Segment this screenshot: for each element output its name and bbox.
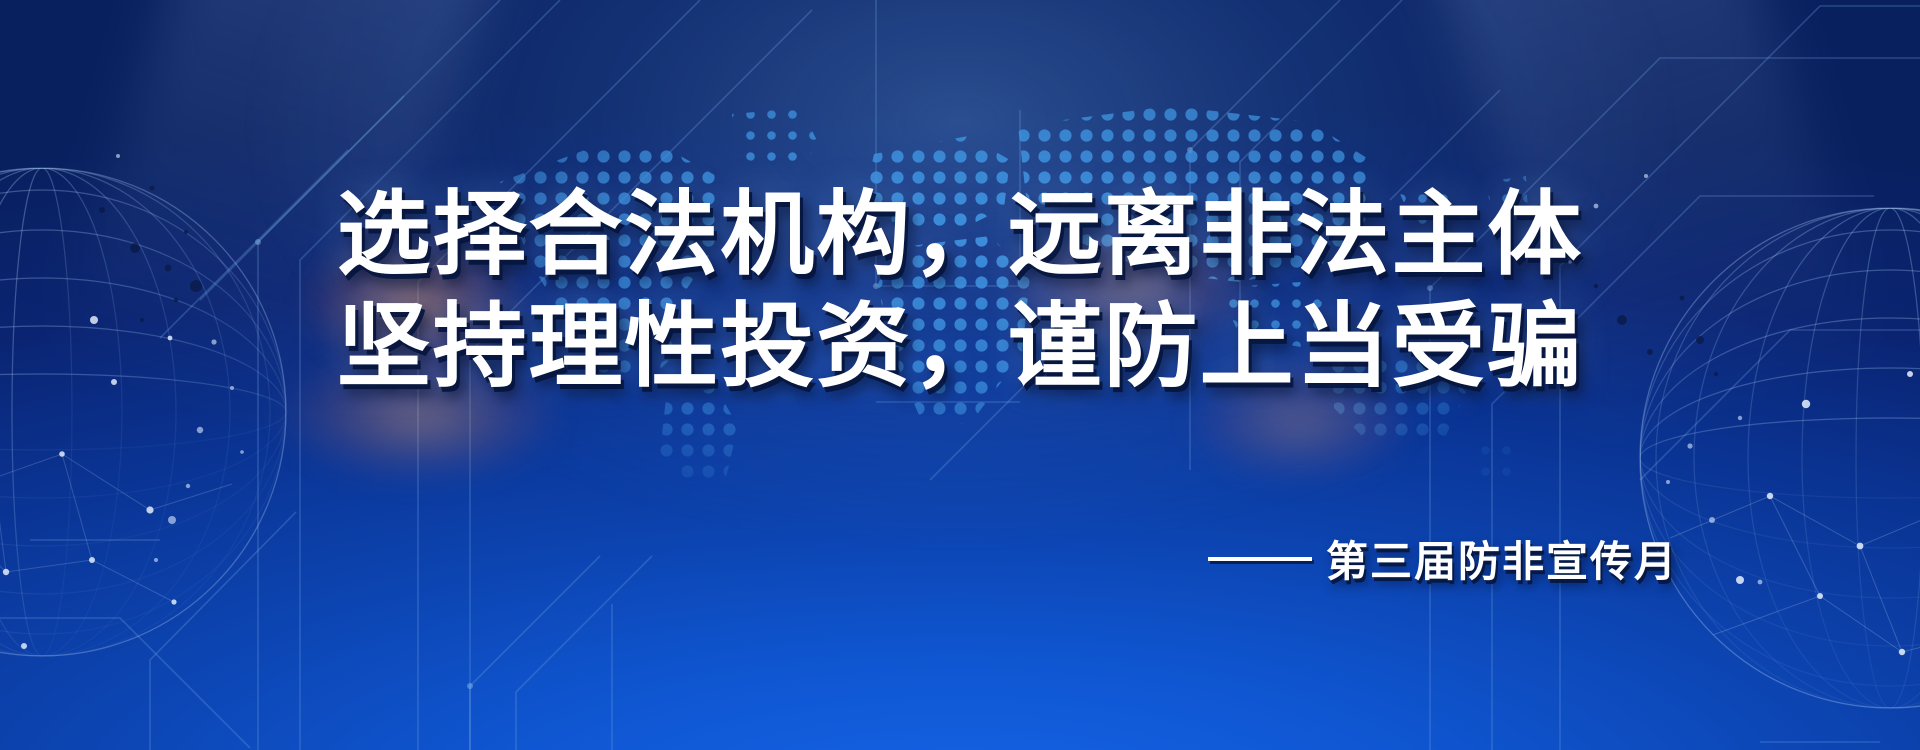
headline-block: 选择合法机构，远离非法主体 坚持理性投资，谨防上当受骗	[0, 182, 1920, 400]
attribution-rule	[1208, 557, 1312, 561]
headline-line-1: 选择合法机构，远离非法主体	[0, 182, 1920, 288]
headline-line-2: 坚持理性投资，谨防上当受骗	[0, 294, 1920, 400]
attribution-block: 第三届防非宣传月	[1208, 528, 1678, 589]
attribution-text: 第三届防非宣传月	[1326, 528, 1678, 589]
banner-canvas: 选择合法机构，远离非法主体 坚持理性投资，谨防上当受骗 第三届防非宣传月	[0, 0, 1920, 750]
